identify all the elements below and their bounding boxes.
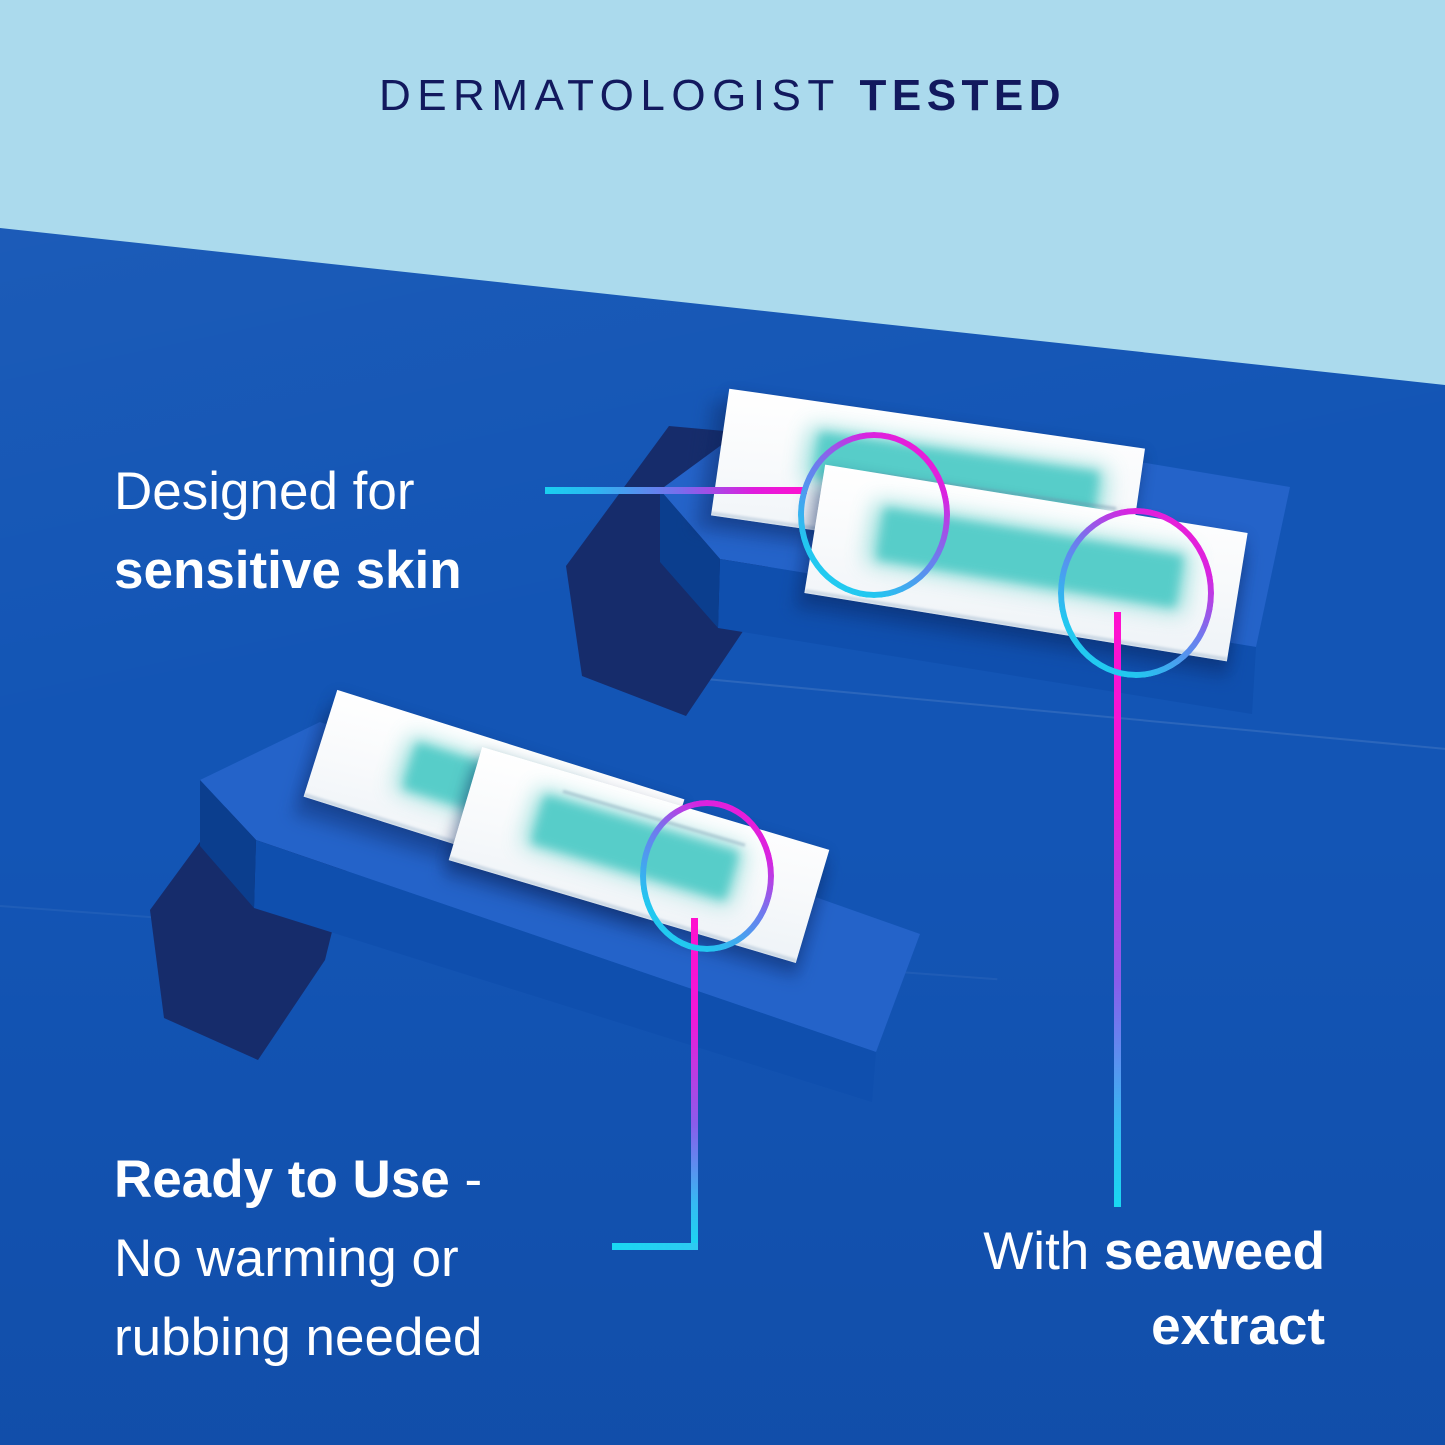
callout-seaweed-line2: extract xyxy=(983,1289,1325,1364)
callout-ready-line1: Ready to Use - xyxy=(114,1140,482,1219)
callout-sensitive-line2: sensitive skin xyxy=(114,531,462,610)
highlight-ring-upper-right xyxy=(1058,508,1214,678)
header-banner: DERMATOLOGIST TESTED xyxy=(0,0,1445,228)
callout-ready-to-use: Ready to Use - No warming or rubbing nee… xyxy=(114,1140,482,1377)
callout-ready-line3: rubbing needed xyxy=(114,1298,482,1377)
leader-line-seaweed xyxy=(1114,612,1121,1207)
highlight-ring-lower xyxy=(640,800,774,952)
callout-seaweed-extract: With seaweed extract xyxy=(983,1214,1325,1364)
leader-line-ready-horizontal xyxy=(612,1243,698,1250)
callout-seaweed-line1-regular: With xyxy=(983,1222,1104,1281)
callout-ready-line2: No warming or xyxy=(114,1219,482,1298)
callout-seaweed-line1-bold: seaweed xyxy=(1104,1222,1325,1281)
leader-line-ready-vertical xyxy=(691,918,698,1250)
header-title-bold: TESTED xyxy=(859,71,1066,120)
callout-ready-line1-bold: Ready to Use xyxy=(114,1150,450,1209)
leader-line-sensitive-skin xyxy=(545,487,807,494)
header-title: DERMATOLOGIST TESTED xyxy=(379,71,1066,121)
callout-seaweed-line1: With seaweed xyxy=(983,1214,1325,1289)
callout-sensitive-line1: Designed for xyxy=(114,452,462,531)
infographic-canvas: DERMATOLOGIST TESTED xyxy=(0,0,1445,1445)
header-title-regular: DERMATOLOGIST xyxy=(379,71,841,120)
highlight-ring-upper-left xyxy=(798,432,950,598)
callout-sensitive-skin: Designed for sensitive skin xyxy=(114,452,462,610)
callout-ready-line1-suffix: - xyxy=(450,1150,482,1209)
